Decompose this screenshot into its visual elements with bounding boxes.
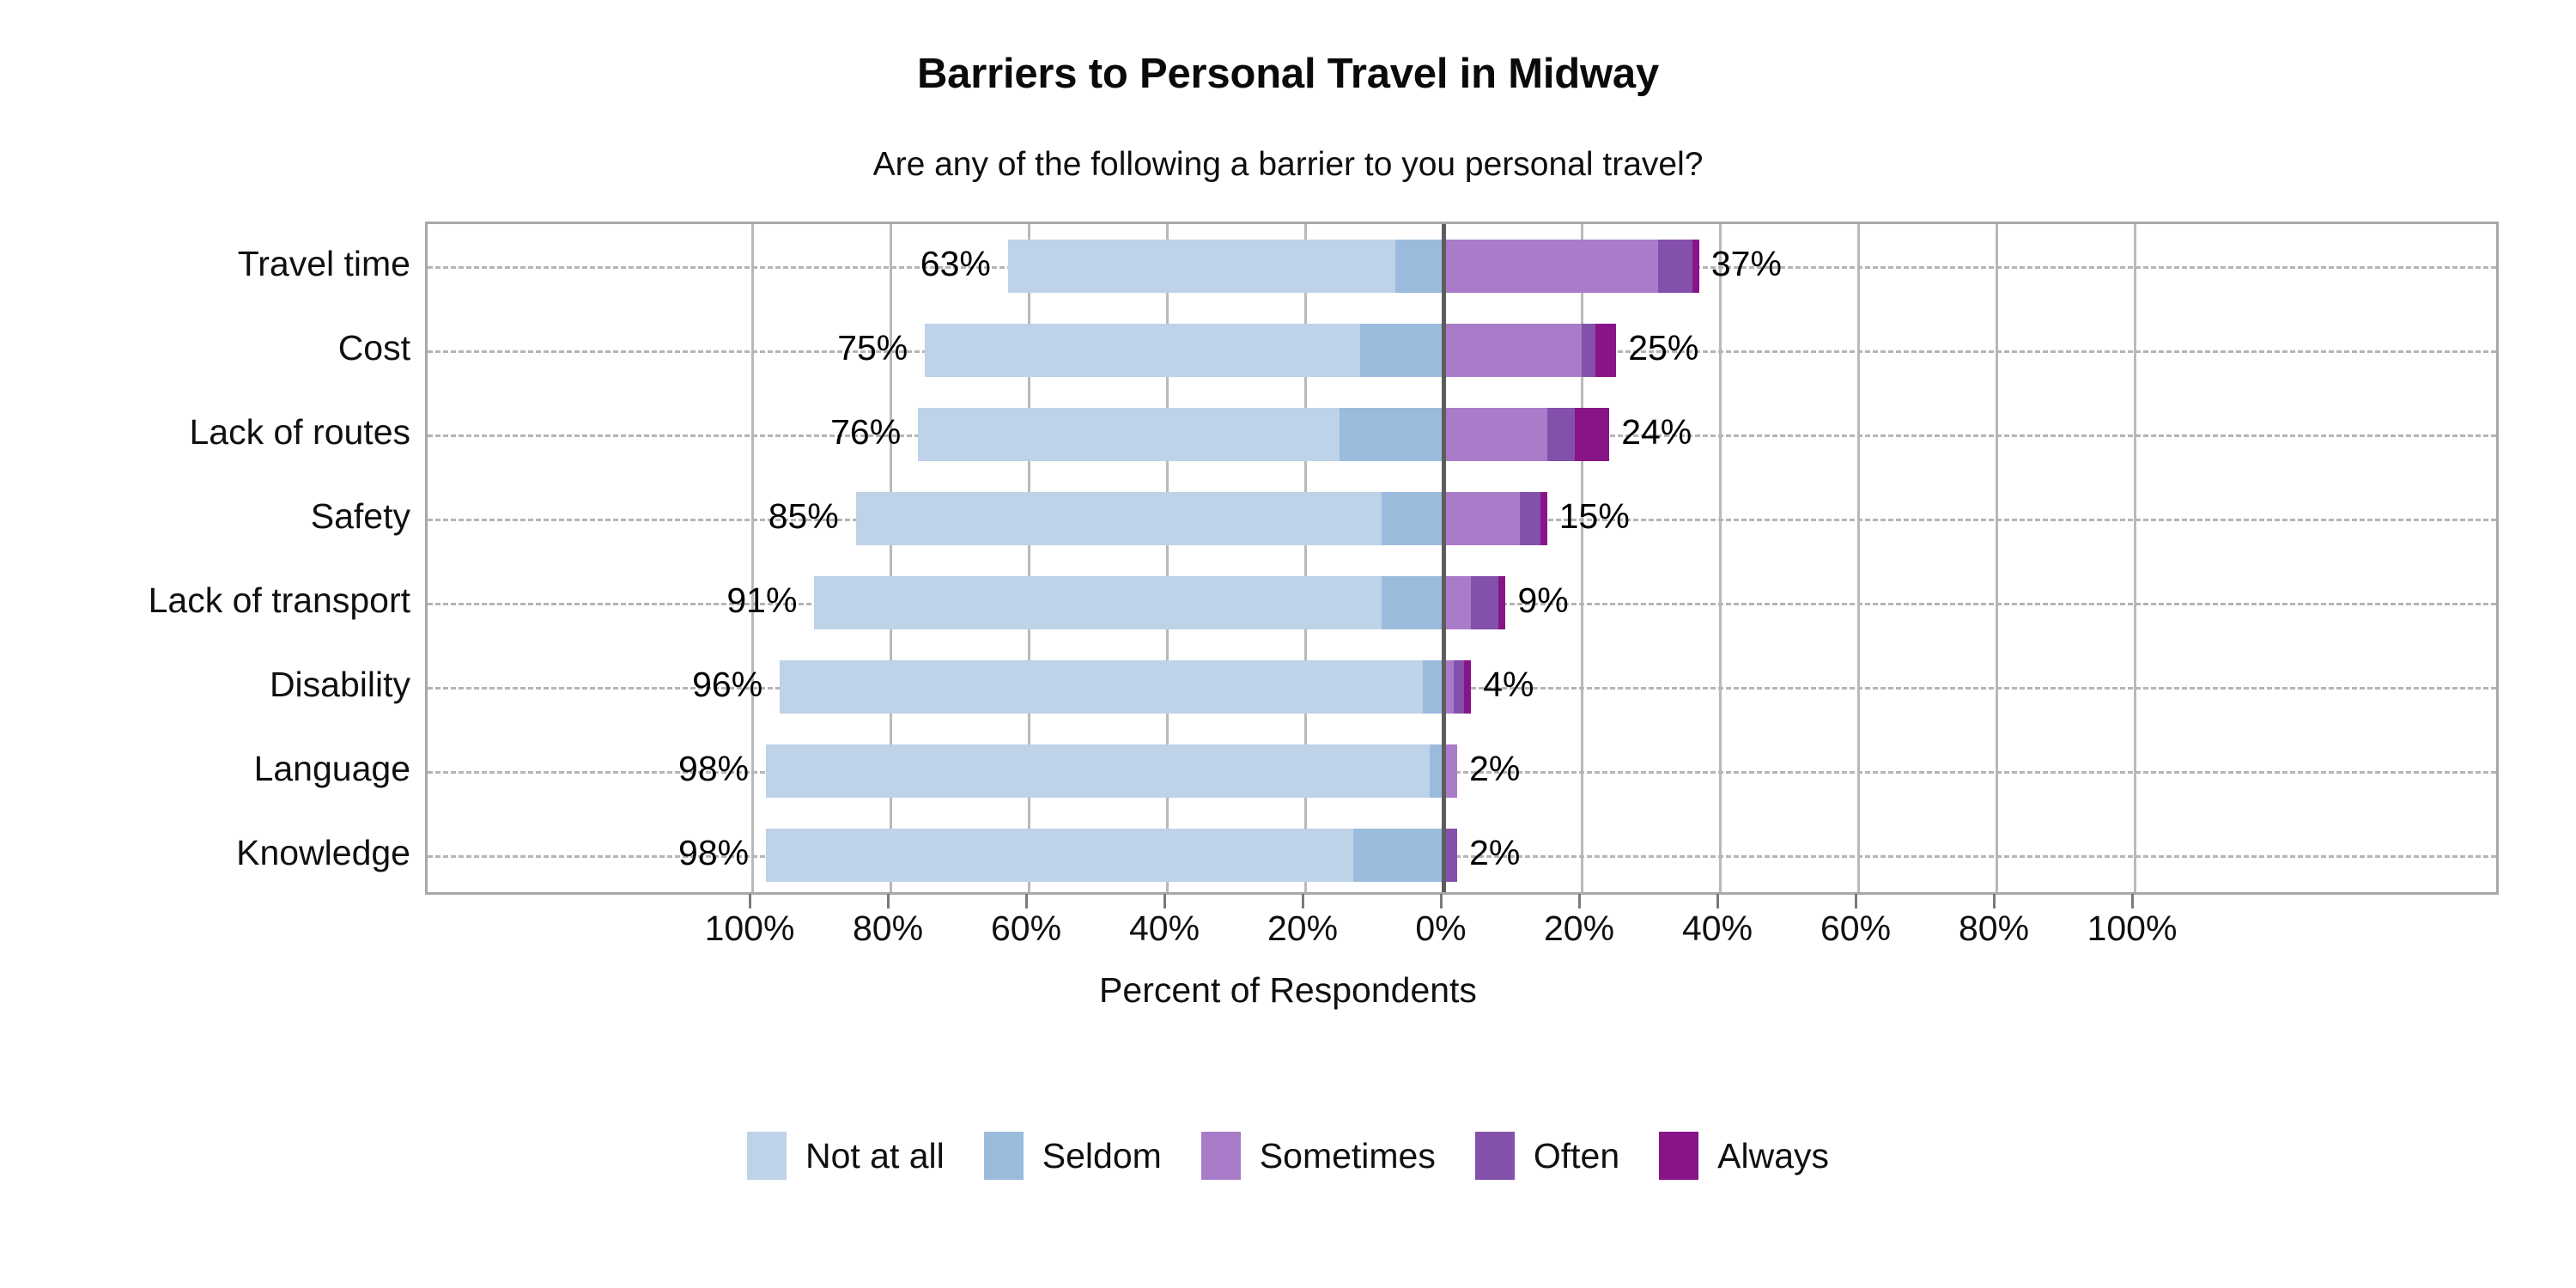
x-axis-title: Percent of Respondents [0, 970, 2576, 1011]
bar-segment [1360, 324, 1443, 377]
x-axis-tick-label: 100% [2087, 908, 2178, 949]
legend-swatch-icon [1475, 1132, 1515, 1180]
legend-swatch-icon [747, 1132, 787, 1180]
x-axis-tick-mark [887, 894, 890, 908]
x-axis-tick-label: 60% [1820, 908, 1891, 949]
bar-segment [766, 744, 1430, 798]
bar-segment [766, 829, 1353, 882]
x-axis-tick-label: 20% [1267, 908, 1338, 949]
bar-value-label-negative: 85% [769, 489, 854, 543]
bar-value-label-negative: 63% [920, 237, 1005, 290]
x-axis-tick-label: 40% [1129, 908, 1200, 949]
bar-value-label-negative: 91% [726, 574, 811, 627]
bar-value-label-negative: 98% [678, 742, 763, 795]
bar-segment [1443, 240, 1658, 293]
bar-segment [1520, 492, 1540, 545]
bar-segment [856, 492, 1382, 545]
bar-row [428, 324, 2496, 377]
y-axis-label-language: Language [0, 742, 410, 795]
bar-value-label-positive: 15% [1545, 489, 1630, 543]
bar-value-label-negative: 76% [830, 405, 915, 459]
x-axis-tick-mark [1163, 894, 1166, 908]
bar-segment [1340, 408, 1443, 461]
bar-segment [1423, 660, 1443, 714]
bar-segment [1008, 240, 1395, 293]
bar-segment [1454, 660, 1464, 714]
bar-value-label-positive: 9% [1503, 574, 1568, 627]
bar-segment [1353, 829, 1443, 882]
bar-value-label-positive: 25% [1613, 321, 1698, 374]
bar-segment [1547, 408, 1575, 461]
bar-segment [1658, 240, 1692, 293]
y-axis-label-disability: Disability [0, 658, 410, 711]
x-axis-tick-label: 100% [705, 908, 795, 949]
zero-axis-line [1442, 224, 1446, 892]
bar-segment [1382, 492, 1443, 545]
legend-item[interactable]: Always [1659, 1132, 1829, 1180]
bar-value-label-negative: 75% [837, 321, 922, 374]
bar-segment [1443, 492, 1520, 545]
bar-value-label-positive: 2% [1455, 742, 1520, 795]
legend-swatch-icon [1659, 1132, 1698, 1180]
chart-subtitle: Are any of the following a barrier to yo… [0, 146, 2576, 184]
x-axis-tick-mark [749, 894, 751, 908]
legend-item[interactable]: Sometimes [1201, 1132, 1436, 1180]
x-axis-tick-mark [1993, 894, 1996, 908]
y-axis-label-lack-of-routes: Lack of routes [0, 405, 410, 459]
y-axis-label-safety: Safety [0, 489, 410, 543]
x-axis-tick-mark [1716, 894, 1719, 908]
chart-container: Barriers to Personal Travel in Midway Ar… [0, 0, 2576, 1288]
legend-swatch-icon [1201, 1132, 1241, 1180]
bar-row [428, 240, 2496, 293]
legend-label: Not at all [805, 1136, 945, 1176]
x-axis-tick-label: 0% [1415, 908, 1466, 949]
bar-segment [1382, 576, 1443, 629]
bar-row [428, 408, 2496, 461]
x-axis-tick-mark [2131, 894, 2134, 908]
chart-title: Barriers to Personal Travel in Midway [0, 50, 2576, 98]
bar-value-label-positive: 4% [1468, 658, 1534, 711]
bar-segment [925, 324, 1360, 377]
legend: Not at allSeldomSometimesOftenAlways [0, 1132, 2576, 1180]
legend-item[interactable]: Often [1475, 1132, 1619, 1180]
bar-segment [780, 660, 1423, 714]
bar-value-label-negative: 96% [692, 658, 777, 711]
y-axis-label-knowledge: Knowledge [0, 826, 410, 879]
bar-segment [1443, 576, 1471, 629]
x-axis-tick-label: 20% [1544, 908, 1614, 949]
legend-label: Often [1534, 1136, 1619, 1176]
legend-item[interactable]: Not at all [747, 1132, 945, 1180]
bar-segment [814, 576, 1381, 629]
x-axis-tick-label: 80% [853, 908, 923, 949]
x-axis-tick-label: 80% [1959, 908, 2029, 949]
bar-value-label-positive: 2% [1455, 826, 1520, 879]
legend-item[interactable]: Seldom [984, 1132, 1162, 1180]
bar-segment [1395, 240, 1443, 293]
bar-segment [1582, 324, 1595, 377]
x-axis-tick-label: 60% [991, 908, 1061, 949]
y-axis-label-cost: Cost [0, 321, 410, 374]
legend-label: Seldom [1042, 1136, 1162, 1176]
bar-value-label-positive: 37% [1697, 237, 1782, 290]
bar-segment [918, 408, 1340, 461]
legend-swatch-icon [984, 1132, 1024, 1180]
legend-label: Sometimes [1260, 1136, 1436, 1176]
y-axis-label-travel-time: Travel time [0, 237, 410, 290]
bar-row [428, 492, 2496, 545]
bar-segment [1443, 408, 1547, 461]
y-axis-label-lack-of-transport: Lack of transport [0, 574, 410, 627]
x-axis-tick-label: 40% [1682, 908, 1753, 949]
bar-segment [1443, 324, 1582, 377]
bar-value-label-positive: 24% [1607, 405, 1692, 459]
bar-value-label-negative: 98% [678, 826, 763, 879]
bar-segment [1575, 408, 1609, 461]
bar-segment [1471, 576, 1498, 629]
x-axis-tick-mark [1025, 894, 1028, 908]
legend-label: Always [1717, 1136, 1829, 1176]
x-axis-tick-mark [1440, 894, 1443, 908]
x-axis-tick-mark [1855, 894, 1857, 908]
x-axis-tick-mark [1578, 894, 1581, 908]
x-axis-tick-mark [1302, 894, 1304, 908]
